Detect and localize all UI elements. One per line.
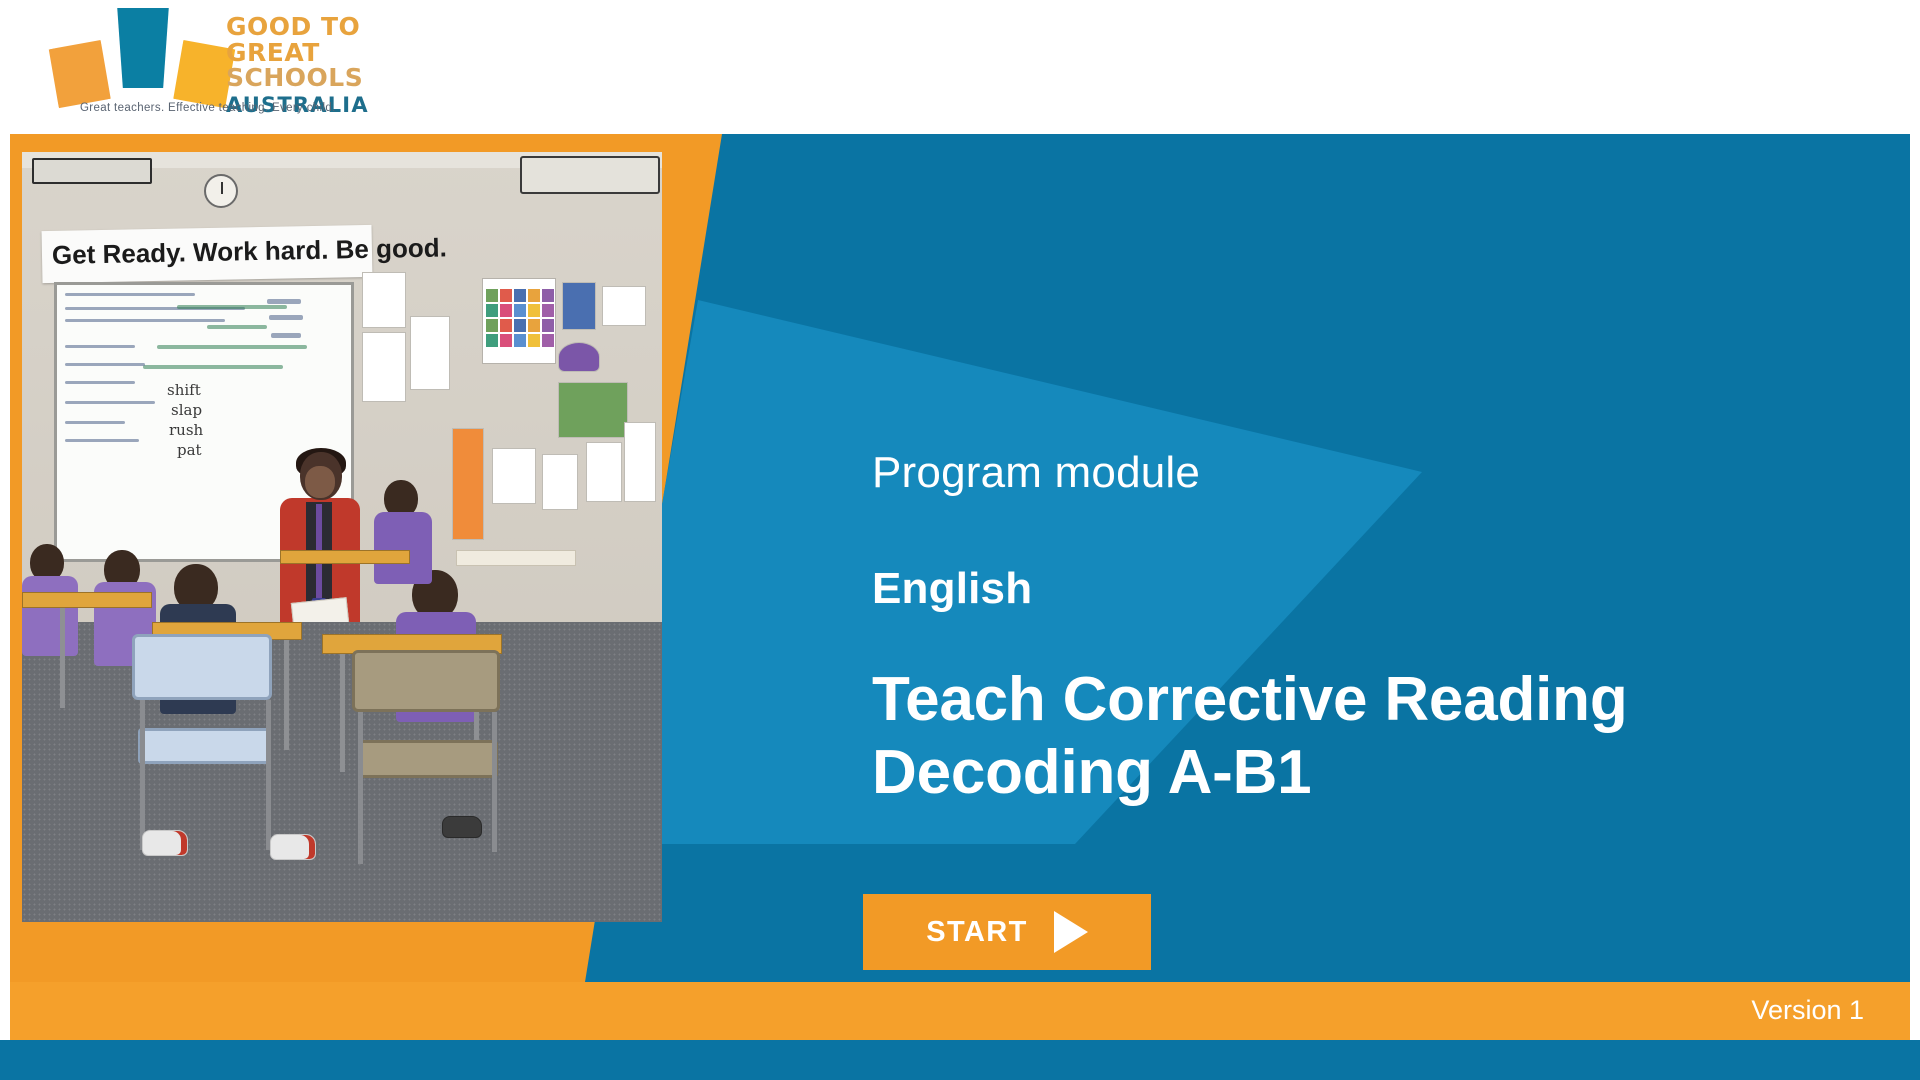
- photo-desk-1: [22, 592, 152, 608]
- start-button-label: START: [926, 916, 1028, 949]
- version-label: Version 1: [1751, 995, 1864, 1026]
- logo-books-icon: [56, 18, 216, 100]
- photo-desk-4: [280, 550, 410, 564]
- start-button[interactable]: START: [863, 894, 1151, 970]
- right-edge-mask: [1910, 134, 1920, 1040]
- logo-line-3: SCHOOLS: [226, 65, 376, 91]
- kicker-text: Program module: [872, 448, 1200, 498]
- whiteboard-word-2: slap: [171, 401, 202, 419]
- photo-shoe-2: [270, 834, 316, 860]
- version-bar: Version 1: [10, 982, 1910, 1040]
- photo-banner: Get Ready. Work hard. Be good.: [42, 225, 373, 283]
- slide-root: GOOD TO GREAT SCHOOLS AUSTRALIA Great te…: [0, 0, 1920, 1080]
- photo-air-vent-left: [32, 158, 152, 184]
- whiteboard-word-1: shift: [167, 381, 201, 399]
- module-title-line-1: Teach Corrective Reading: [872, 664, 1692, 737]
- brand-tagline: Great teachers. Effective teaching. Ever…: [80, 102, 380, 114]
- play-triangle-icon: [1054, 911, 1088, 953]
- module-title-line-2: Decoding A-B1: [872, 737, 1692, 810]
- header-bar: GOOD TO GREAT SCHOOLS AUSTRALIA Great te…: [0, 0, 1920, 134]
- whiteboard-word-4: pat: [177, 441, 202, 459]
- logo-card-middle-icon: [115, 8, 171, 88]
- photo-times-table-poster: [482, 278, 556, 364]
- left-edge-mask: [0, 134, 10, 1040]
- logo-card-left-icon: [45, 38, 114, 111]
- photo-shoe-1: [142, 830, 188, 856]
- logo-line-1: GOOD TO: [226, 14, 376, 40]
- subject-text: English: [872, 564, 1032, 614]
- brand-logo: GOOD TO GREAT SCHOOLS AUSTRALIA Great te…: [44, 10, 374, 130]
- module-title: Teach Corrective Reading Decoding A-B1: [872, 664, 1692, 809]
- content-frame: Get Ready. Work hard. Be good. sh: [10, 134, 1910, 982]
- logo-line-2: GREAT: [226, 40, 376, 66]
- photo-table-right: [456, 550, 576, 566]
- photo-shoe-3: [442, 816, 482, 838]
- classroom-photo: Get Ready. Work hard. Be good. sh: [22, 152, 662, 922]
- bottom-blue-bar: [0, 1040, 1920, 1080]
- photo-wall-clock-icon: [204, 174, 238, 208]
- whiteboard-word-3: rush: [169, 421, 203, 439]
- photo-air-conditioner: [520, 156, 660, 194]
